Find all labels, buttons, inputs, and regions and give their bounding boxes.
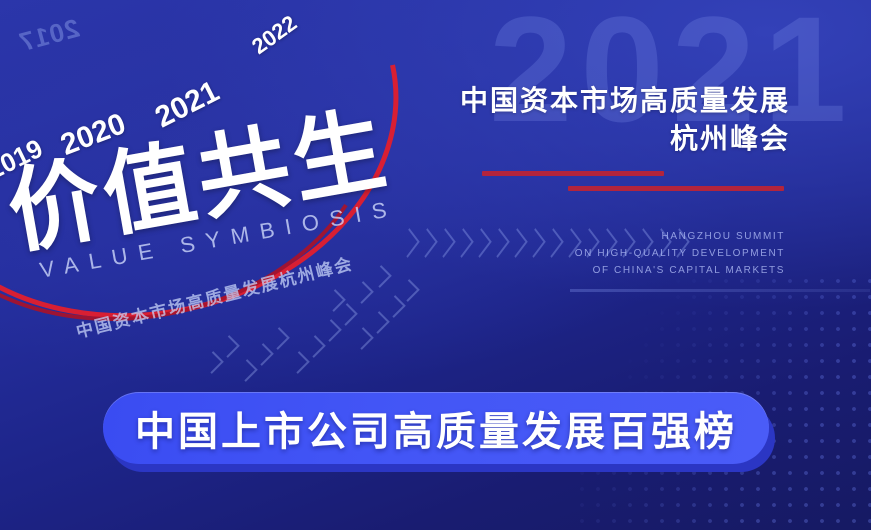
banner-pill[interactable]: 中国上市公司高质量发展百强榜 xyxy=(103,392,769,464)
ranking-banner[interactable]: 中国上市公司高质量发展百强榜 xyxy=(103,392,775,472)
red-accent-bar-top xyxy=(482,171,664,176)
header-line-1: 中国资本市场高质量发展 xyxy=(400,82,790,120)
divider-hairline xyxy=(570,289,870,292)
english-line-3: OF CHINA'S CAPITAL MARKETS xyxy=(520,262,785,279)
red-accent-bar-bottom xyxy=(568,186,784,191)
poster-canvas: 2021 HANGZHOU SUMMIT ON QU DEVELOPMENT O… xyxy=(0,0,871,530)
header-line-2: 杭州峰会 xyxy=(400,120,790,158)
english-subtitle: HANGZHOU SUMMIT ON HIGH-QUALITY DEVELOPM… xyxy=(520,228,785,280)
english-line-2: ON HIGH-QUALITY DEVELOPMENT xyxy=(520,245,785,262)
year-2022: 2022 xyxy=(247,10,302,60)
summit-header: 中国资本市场高质量发展 杭州峰会 xyxy=(400,82,790,158)
english-line-1: HANGZHOU SUMMIT xyxy=(520,228,785,245)
banner-label: 中国上市公司高质量发展百强榜 xyxy=(135,399,737,457)
